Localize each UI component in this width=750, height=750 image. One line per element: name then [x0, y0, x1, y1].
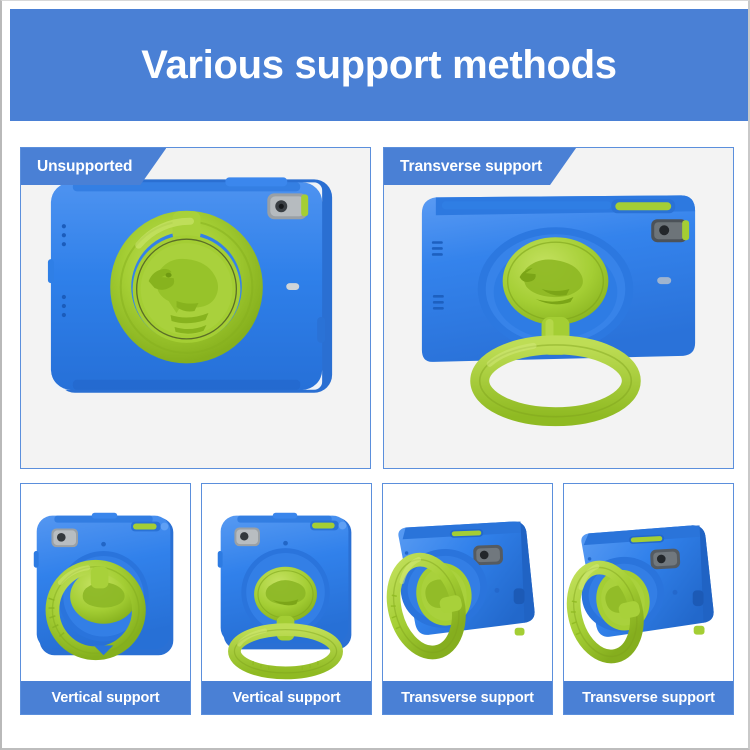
cell-caption-transverse-support-2: Transverse support: [564, 681, 733, 714]
tablet-case-kickstand-illustration: [384, 148, 733, 468]
cell-vertical-support-2: Vertical support: [201, 483, 372, 715]
cell-caption-vertical-support-2: Vertical support: [202, 681, 371, 714]
panel-tab-text: Transverse support: [400, 158, 542, 176]
header-banner: Various support methods: [10, 9, 748, 121]
tablet-portrait-strap-illustration: [21, 484, 190, 681]
tablet-portrait-kickstand-illustration: [202, 484, 371, 681]
tablet-angled-left-illustration: [383, 484, 552, 681]
cell-vertical-support-1: Vertical support: [20, 483, 191, 715]
panel-transverse-support: Transverse support: [383, 147, 734, 469]
tablet-angled-right-illustration: [564, 484, 733, 681]
cell-caption-transverse-support-1: Transverse support: [383, 681, 552, 714]
page-title: Various support methods: [141, 45, 616, 85]
tab-label-transverse-support: Transverse support: [384, 148, 576, 185]
infographic-page: Various support methods: [0, 0, 750, 750]
tablet-case-flat-illustration: [21, 148, 370, 468]
bottom-cell-row: Vertical support: [20, 483, 734, 715]
panel-tab-text: Unsupported: [37, 158, 132, 176]
cell-transverse-support-1: Transverse support: [382, 483, 553, 715]
photo-tablet-case-portrait-ring-hand-strap: [21, 484, 190, 681]
top-panel-row: Unsupported: [20, 147, 734, 469]
photo-tablet-case-angled-right-ring-kickstand: [564, 484, 733, 681]
photo-tablet-case-flat-back-ring-closed: [21, 148, 370, 468]
panel-unsupported: Unsupported: [20, 147, 371, 469]
cell-transverse-support-2: Transverse support: [563, 483, 734, 715]
photo-tablet-case-portrait-ring-kickstand: [202, 484, 371, 681]
photo-tablet-case-angled-left-ring-kickstand: [383, 484, 552, 681]
cell-caption-vertical-support-1: Vertical support: [21, 681, 190, 714]
photo-tablet-case-landscape-ring-kickstand: [384, 148, 733, 468]
